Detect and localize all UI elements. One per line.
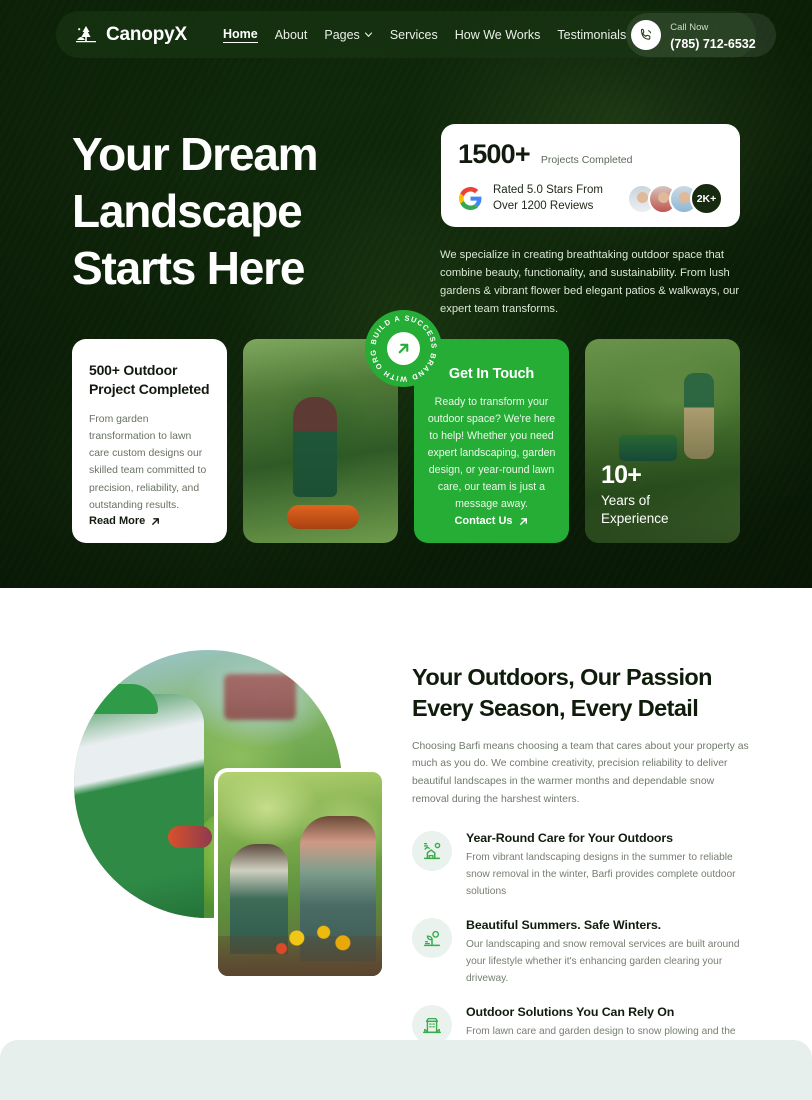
feature-description: From vibrant landscaping designs in the …: [466, 850, 750, 900]
about-title: Your Outdoors, Our Passion Every Season,…: [412, 662, 750, 724]
read-more-link[interactable]: Read More: [89, 515, 161, 527]
organic-brand-badge[interactable]: BUILD A SUCCESS BRAND WITH ORGANIC: [365, 310, 442, 387]
years-label-line1: Years of: [601, 493, 650, 508]
nav-item-how-we-works-label: How We Works: [455, 28, 541, 42]
nav-item-pages[interactable]: Pages: [324, 28, 372, 42]
garden-house-icon: [412, 831, 452, 871]
hero-headline: Your Dream Landscape Starts Here: [72, 126, 317, 297]
nav-item-services[interactable]: Services: [390, 28, 438, 42]
projects-caption: Projects Completed: [541, 154, 633, 166]
nav-item-how-we-works[interactable]: How We Works: [455, 28, 541, 42]
contact-us-label: Contact Us: [454, 515, 512, 527]
hero-headline-line1: Your Dream: [72, 128, 317, 180]
rating-text: Rated 5.0 Stars From Over 1200 Reviews: [493, 183, 603, 215]
years-label: Years of Experience: [601, 492, 669, 528]
nav-item-testimonials[interactable]: Testimonials: [557, 28, 626, 42]
nav-item-testimonials-label: Testimonials: [557, 28, 626, 42]
about-paragraph: Choosing Barfi means choosing a team tha…: [412, 738, 750, 810]
avatar-count-badge: 2K+: [690, 182, 723, 215]
brand-name: CanopyX: [106, 24, 187, 46]
nav-item-home-label: Home: [223, 27, 258, 41]
rating-line1: Rated 5.0 Stars From: [493, 184, 603, 196]
nav-item-home[interactable]: Home: [223, 27, 258, 43]
about-title-line2: Every Season, Every Detail: [412, 695, 698, 721]
projects-count: 1500+: [458, 139, 530, 170]
phone-icon: [631, 20, 661, 50]
nav-links: Home About Pages Services How We Works: [223, 27, 626, 43]
background-house-shape: [224, 674, 296, 720]
read-more-label: Read More: [89, 515, 145, 527]
call-now-button[interactable]: Call Now (785) 712-6532: [626, 13, 775, 57]
get-in-touch-body: Ready to transform your outdoor space? W…: [427, 394, 556, 513]
hero-headline-line3: Starts Here: [72, 242, 304, 294]
planting-flowers-photo: [214, 768, 386, 980]
hero-section: CanopyX Home About Pages Services: [0, 0, 812, 588]
feature-title: Beautiful Summers. Safe Winters.: [466, 918, 750, 932]
years-number: 10+: [601, 462, 669, 488]
call-now-label: Call Now: [670, 22, 708, 33]
navbar: CanopyX Home About Pages Services: [56, 11, 756, 58]
rating-row: Rated 5.0 Stars From Over 1200 Reviews 2…: [458, 182, 723, 215]
stats-card: 1500+ Projects Completed Rated 5.0 Stars…: [441, 124, 740, 227]
arrow-up-right-icon: [518, 516, 529, 527]
feature-title: Year-Round Care for Your Outdoors: [466, 831, 750, 845]
badge-ring-label: BUILD A SUCCESS BRAND WITH ORGANIC: [365, 310, 439, 384]
outdoor-projects-title-line1: 500+ Outdoor: [89, 362, 177, 378]
plant-growth-icon: [412, 918, 452, 958]
outdoor-projects-body: From garden transformation to lawn care …: [89, 411, 210, 515]
get-in-touch-title: Get In Touch: [427, 366, 556, 382]
rating-line2: Over 1200 Reviews: [493, 200, 593, 212]
call-now-number: (785) 712-6532: [670, 37, 755, 51]
outdoor-projects-title-line2: Project Completed: [89, 381, 209, 397]
years-label-line2: Experience: [601, 511, 669, 526]
tree-landscape-icon: [74, 23, 98, 47]
hero-paragraph: We specialize in creating breathtaking o…: [440, 246, 742, 319]
feature-text: Year-Round Care for Your Outdoors From v…: [466, 831, 750, 900]
arrow-up-right-icon: [150, 516, 161, 527]
green-cap-shape: [88, 684, 158, 714]
hero-headline-line2: Landscape: [72, 185, 302, 237]
glove-shape: [168, 826, 212, 848]
about-content: Your Outdoors, Our Passion Every Season,…: [412, 662, 750, 1075]
brand-logo[interactable]: CanopyX: [74, 23, 187, 47]
nav-item-pages-label: Pages: [324, 28, 359, 42]
feature-text: Beautiful Summers. Safe Winters. Our lan…: [466, 918, 750, 987]
years-experience-card: 10+ Years of Experience: [585, 339, 740, 543]
nav-item-about[interactable]: About: [275, 28, 308, 42]
stats-top-row: 1500+ Projects Completed: [458, 139, 723, 170]
about-title-line1: Your Outdoors, Our Passion: [412, 664, 712, 690]
feature-item-year-round-care: Year-Round Care for Your Outdoors From v…: [412, 831, 750, 900]
reviewer-avatars: 2K+: [627, 182, 723, 215]
footer-band: [0, 1040, 812, 1100]
nav-item-about-label: About: [275, 28, 308, 42]
contact-us-link[interactable]: Contact Us: [414, 515, 569, 527]
years-experience-text: 10+ Years of Experience: [601, 462, 669, 528]
feature-description: Our landscaping and snow removal service…: [466, 937, 750, 987]
landing-page: CanopyX Home About Pages Services: [0, 0, 812, 1100]
flowers-shape: [268, 914, 364, 962]
chevron-down-icon: [364, 30, 373, 39]
outdoor-projects-title: 500+ Outdoor Project Completed: [89, 361, 210, 400]
feature-item-summers-winters: Beautiful Summers. Safe Winters. Our lan…: [412, 918, 750, 987]
feature-list: Year-Round Care for Your Outdoors From v…: [412, 831, 750, 1074]
feature-title: Outdoor Solutions You Can Rely On: [466, 1005, 750, 1019]
google-g-icon: [458, 186, 483, 211]
badge-ring-text: BUILD A SUCCESS BRAND WITH ORGANIC: [365, 310, 442, 387]
gardener-figure: [74, 694, 204, 918]
nav-item-services-label: Services: [390, 28, 438, 42]
outdoor-projects-card: 500+ Outdoor Project Completed From gard…: [72, 339, 227, 543]
